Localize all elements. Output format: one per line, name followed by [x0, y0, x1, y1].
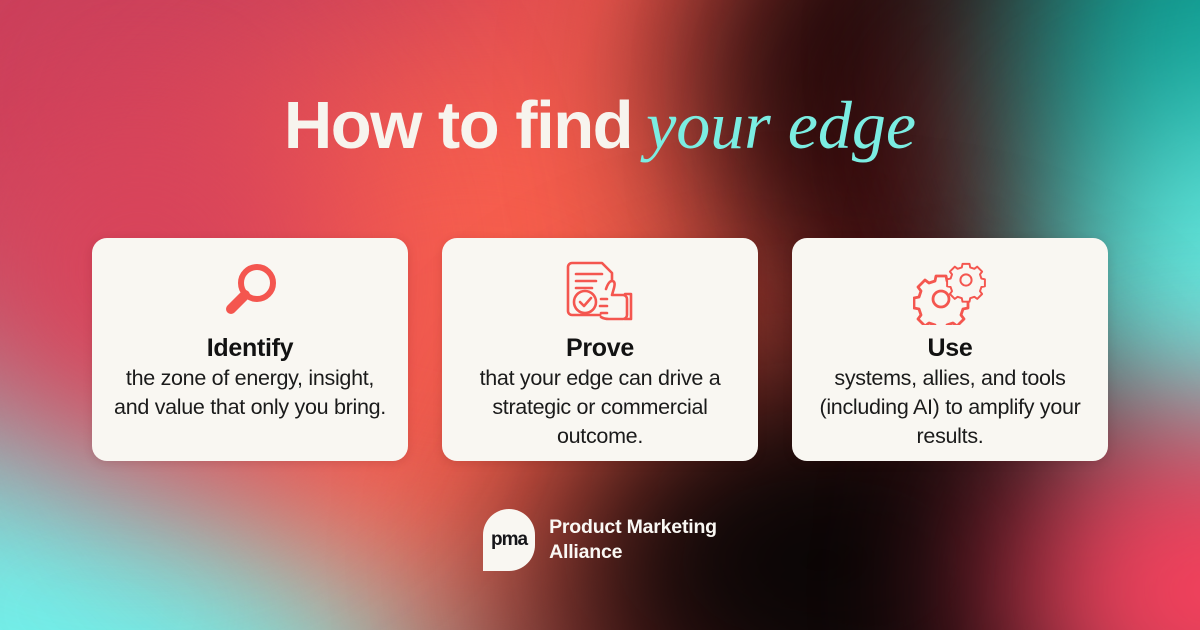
- gears-icon: [804, 256, 1096, 328]
- card-body: the zone of energy, insight, and value t…: [104, 364, 396, 422]
- footer-logo: pma Product Marketing Alliance: [0, 509, 1200, 571]
- card-identify[interactable]: Identify the zone of energy, insight, an…: [92, 238, 408, 461]
- card-body: that your edge can drive a strategic or …: [454, 364, 746, 451]
- card-use[interactable]: Use systems, allies, and tools (includin…: [792, 238, 1108, 461]
- logo-row: pma Product Marketing Alliance: [483, 509, 717, 571]
- page-title: How to findyour edge: [0, 86, 1200, 165]
- logo-wordmark-line-1: Product Marketing: [549, 515, 717, 540]
- logo-wordmark-line-2: Alliance: [549, 540, 717, 565]
- card-heading: Prove: [454, 333, 746, 363]
- title-main-text: How to find: [284, 88, 632, 163]
- card-heading: Identify: [104, 333, 396, 363]
- card-prove[interactable]: Prove that your edge can drive a strateg…: [442, 238, 758, 461]
- pma-logo-mark-text: pma: [491, 529, 527, 551]
- logo-wordmark: Product Marketing Alliance: [549, 515, 717, 565]
- magnifying-glass-icon: [104, 256, 396, 328]
- card-list: Identify the zone of energy, insight, an…: [92, 238, 1108, 461]
- title-accent-text: your edge: [646, 87, 916, 163]
- poster-canvas: How to findyour edge Identify the zone o…: [0, 0, 1200, 630]
- card-body: systems, allies, and tools (including AI…: [804, 364, 1096, 451]
- document-check-thumbs-up-icon: [454, 256, 746, 328]
- card-heading: Use: [804, 333, 1096, 363]
- pma-logo-mark-icon: pma: [483, 509, 535, 571]
